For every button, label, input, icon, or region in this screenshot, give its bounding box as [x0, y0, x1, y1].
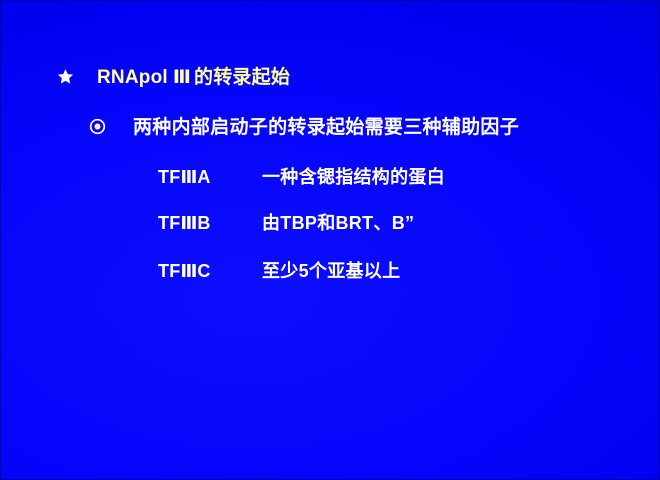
- title-line: RNApol Ⅲ 的转录起始: [57, 62, 290, 89]
- factor-row-tf3c: TFⅢC 至少5个亚基以上: [158, 257, 400, 283]
- subtitle-text: 两种内部启动子的转录起始需要三种辅助因子: [133, 112, 519, 139]
- factor-label-suffix: A: [197, 167, 210, 187]
- fisheye-icon: [89, 118, 113, 137]
- star-icon: [57, 68, 79, 87]
- slide-canvas: RNApol Ⅲ 的转录起始 两种内部启动子的转录起始需要三种辅助因子 TFⅢA…: [0, 0, 660, 480]
- factor-label-roman: Ⅲ: [180, 167, 197, 187]
- factor-label-roman: Ⅲ: [180, 261, 197, 281]
- title-text-suffix: 的转录起始: [194, 62, 290, 89]
- factor-label-prefix: TF: [158, 213, 180, 233]
- factor-label-tf3a: TFⅢA: [158, 167, 218, 188]
- factor-label-tf3c: TFⅢC: [158, 261, 218, 282]
- factor-row-tf3b: TFⅢB 由TBP和BRT、B”: [158, 209, 414, 235]
- factor-description-tf3c: 至少5个亚基以上: [262, 257, 400, 283]
- factor-label-tf3b: TFⅢB: [158, 213, 218, 234]
- title-text-prefix: RNApol: [97, 67, 168, 89]
- factor-label-roman: Ⅲ: [180, 213, 197, 233]
- factor-description-tf3b: 由TBP和BRT、B”: [262, 209, 414, 235]
- title-roman-numeral: Ⅲ: [173, 66, 191, 89]
- factor-label-suffix: B: [197, 213, 210, 233]
- factor-label-prefix: TF: [158, 261, 180, 281]
- factor-label-suffix: C: [197, 261, 210, 281]
- factor-row-tf3a: TFⅢA 一种含锶指结构的蛋白: [158, 163, 445, 189]
- subtitle-line: 两种内部启动子的转录起始需要三种辅助因子: [89, 112, 519, 139]
- factor-description-tf3a: 一种含锶指结构的蛋白: [262, 163, 445, 189]
- factor-label-prefix: TF: [158, 167, 180, 187]
